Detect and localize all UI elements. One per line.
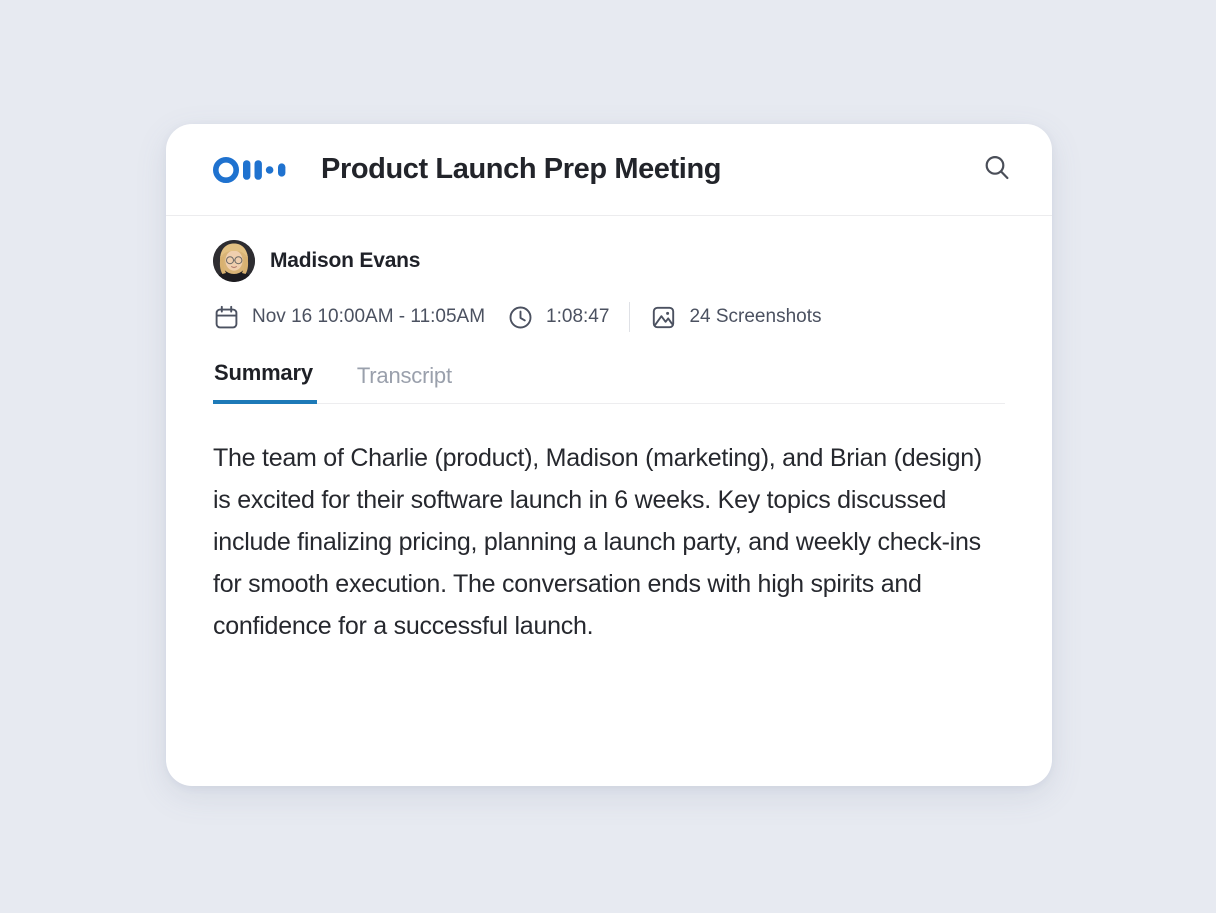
meeting-meta: Nov 16 10:00AM - 11:05AM 1:08:47: [213, 302, 1005, 332]
tab-transcript[interactable]: Transcript: [355, 363, 452, 403]
search-button[interactable]: [976, 149, 1018, 191]
otter-logo[interactable]: [213, 157, 291, 183]
speaker-name: Madison Evans: [270, 249, 420, 273]
summary-paragraph: The team of Charlie (product), Madison (…: [213, 437, 1003, 647]
screenshot-count-text: 24 Screenshots: [689, 306, 821, 328]
meta-divider: [629, 302, 630, 332]
tab-summary[interactable]: Summary: [213, 360, 317, 404]
meta-item-screenshots[interactable]: 24 Screenshots: [650, 304, 821, 330]
page-title: Product Launch Prep Meeting: [321, 153, 976, 186]
meeting-card: Product Launch Prep Meeting: [166, 124, 1052, 786]
meeting-date-text: Nov 16 10:00AM - 11:05AM: [252, 306, 485, 328]
clock-icon: [507, 304, 533, 330]
page-root: Product Launch Prep Meeting: [0, 0, 1216, 913]
meeting-duration-text: 1:08:47: [546, 306, 609, 328]
tab-bar: Summary Transcript: [213, 360, 1005, 404]
card-header: Product Launch Prep Meeting: [166, 124, 1052, 216]
card-body: Madison Evans Nov 16 10:00AM - 11:05AM: [166, 216, 1052, 647]
speaker-row: Madison Evans: [213, 216, 1005, 282]
meta-item-duration: 1:08:47: [507, 304, 609, 330]
calendar-icon: [213, 304, 239, 330]
search-icon: [982, 153, 1012, 186]
avatar[interactable]: [213, 240, 255, 282]
meta-item-date: Nov 16 10:00AM - 11:05AM: [213, 304, 485, 330]
image-icon: [650, 304, 676, 330]
